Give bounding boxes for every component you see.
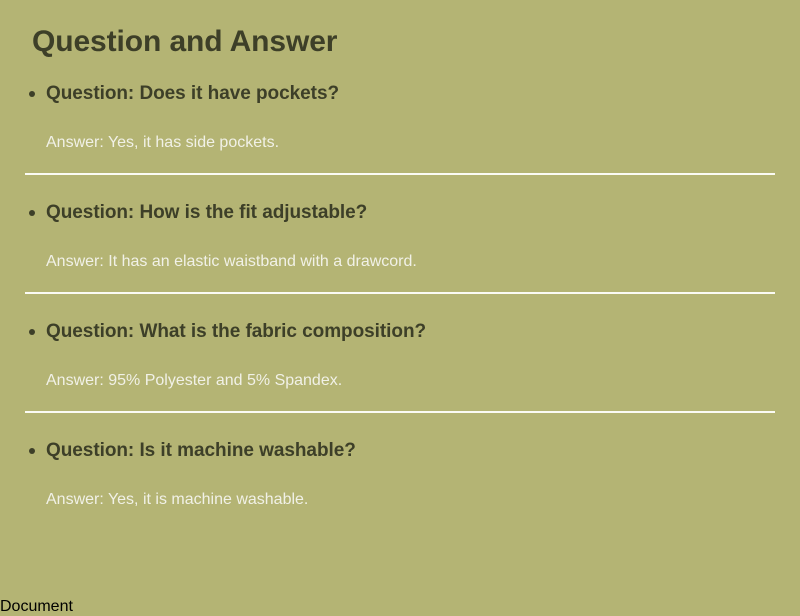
qa-question: Question: Is it machine washable? bbox=[46, 439, 775, 463]
qa-divider bbox=[25, 292, 775, 294]
qa-page: Question and Answer Question: Does it ha… bbox=[0, 0, 800, 598]
qa-question: Question: What is the fabric composition… bbox=[46, 320, 775, 344]
qa-question: Question: Does it have pockets? bbox=[46, 82, 775, 106]
bullet-icon bbox=[29, 210, 35, 216]
qa-divider bbox=[25, 173, 775, 175]
qa-divider bbox=[25, 411, 775, 413]
bullet-icon bbox=[29, 448, 35, 454]
qa-answer: Answer: Yes, it has side pockets. bbox=[46, 106, 775, 154]
qa-answer: Answer: 95% Polyester and 5% Spandex. bbox=[46, 344, 775, 392]
bullet-icon bbox=[29, 91, 35, 97]
qa-answer: Answer: Yes, it is machine washable. bbox=[46, 463, 775, 511]
qa-list: Question: Does it have pockets? Answer: … bbox=[25, 60, 775, 511]
qa-item: Question: Is it machine washable? Answer… bbox=[25, 421, 775, 511]
qa-item: Question: How is the fit adjustable? Ans… bbox=[25, 183, 775, 294]
qa-item: Question: Does it have pockets? Answer: … bbox=[25, 82, 775, 175]
page-title: Question and Answer bbox=[25, 0, 775, 60]
qa-item: Question: What is the fabric composition… bbox=[25, 302, 775, 413]
qa-answer: Answer: It has an elastic waistband with… bbox=[46, 225, 775, 273]
qa-question: Question: How is the fit adjustable? bbox=[46, 201, 775, 225]
bullet-icon bbox=[29, 329, 35, 335]
